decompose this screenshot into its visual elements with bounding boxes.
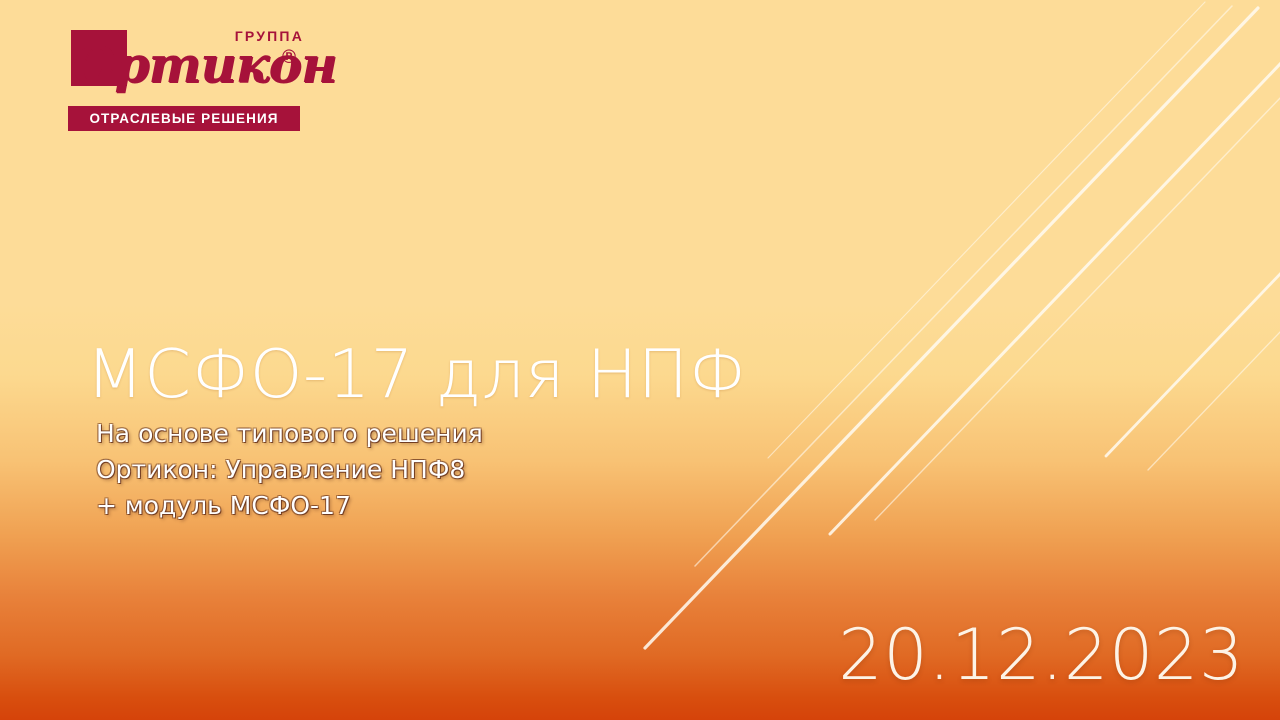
- logo-tagline-badge: ОТРАСЛЕВЫЕ РЕШЕНИЯ: [68, 106, 300, 131]
- subtitle-line-2: Ортикон: Управление НПФ8: [96, 452, 483, 488]
- company-logo[interactable]: ГРУППА Ортикон ® ОТРАСЛЕВЫЕ РЕШЕНИЯ: [64, 24, 316, 102]
- slide-date: 20.12.2023: [838, 620, 1244, 690]
- title-slide: ГРУППА Ортикон ® ОТРАСЛЕВЫЕ РЕШЕНИЯ МСФО…: [0, 0, 1280, 720]
- logo-tagline-text: ОТРАСЛЕВЫЕ РЕШЕНИЯ: [89, 111, 278, 126]
- logo-wordmark-row: ГРУППА Ортикон ®: [64, 24, 316, 102]
- registered-trademark-icon: ®: [282, 48, 296, 67]
- subtitle-line-3: + модуль МСФО-17: [96, 488, 483, 524]
- subtitle-line-1: На основе типового решения: [96, 416, 483, 452]
- slide-title: МСФО-17 для НПФ: [86, 341, 747, 408]
- logo-brand-name: Ортикон: [72, 40, 336, 90]
- slide-subtitle: На основе типового решения Ортикон: Упра…: [96, 416, 483, 524]
